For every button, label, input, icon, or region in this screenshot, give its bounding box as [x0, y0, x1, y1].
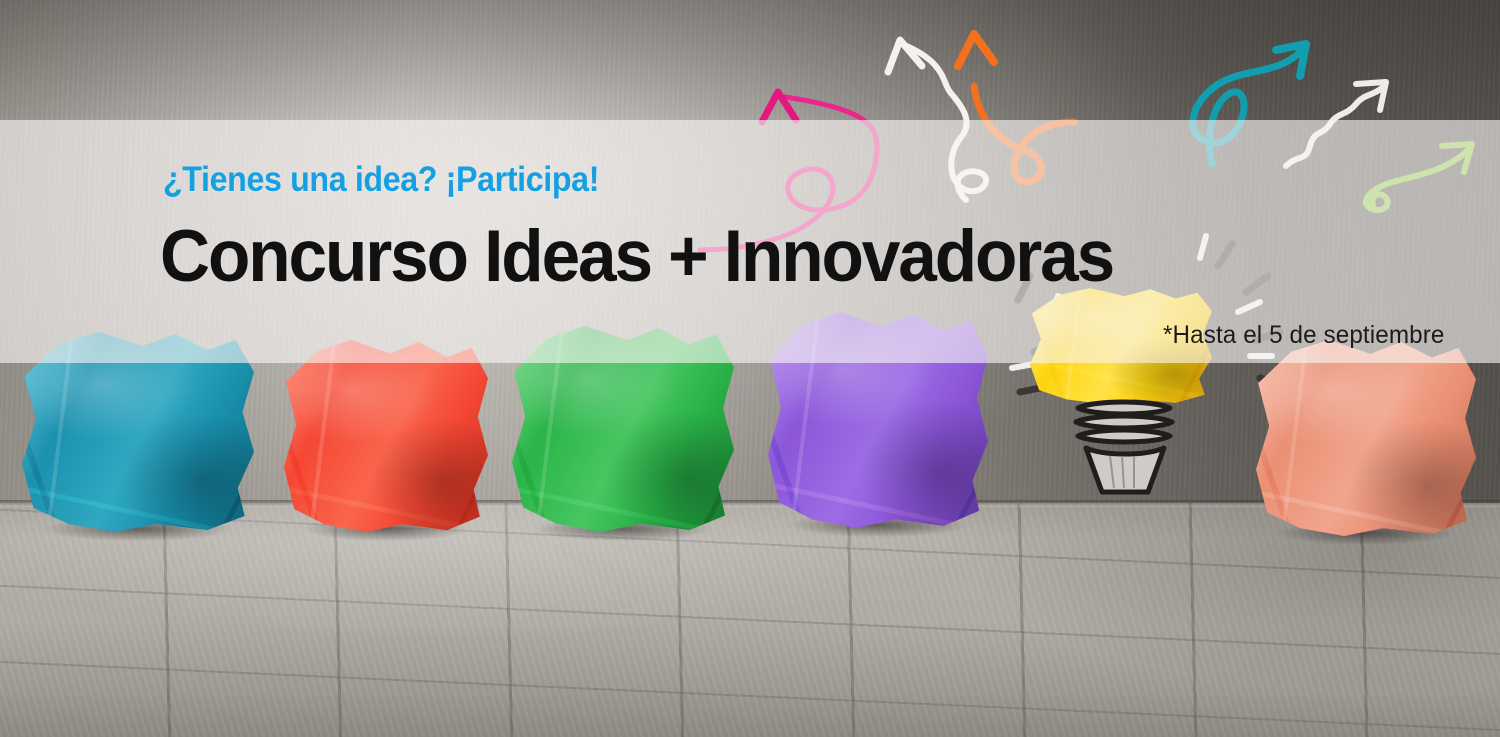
- lightbulb-base-icon: [1060, 392, 1190, 502]
- salmon-paper-ball: [1256, 340, 1476, 536]
- promo-banner: ¿Tienes una idea? ¡Participa! Concurso I…: [0, 0, 1500, 737]
- ball-body: [1256, 340, 1476, 536]
- kicker-text: ¿Tienes una idea? ¡Participa!: [163, 160, 599, 200]
- footer-partners: Organiza Con el apoyo de Con la colabora…: [0, 540, 1500, 737]
- red-paper-ball: [284, 340, 488, 532]
- deadline-text: *Hasta el 5 de septiembre: [1163, 321, 1444, 350]
- page-title: Concurso Ideas + Innovadoras: [160, 215, 1113, 298]
- ball-body: [284, 340, 488, 532]
